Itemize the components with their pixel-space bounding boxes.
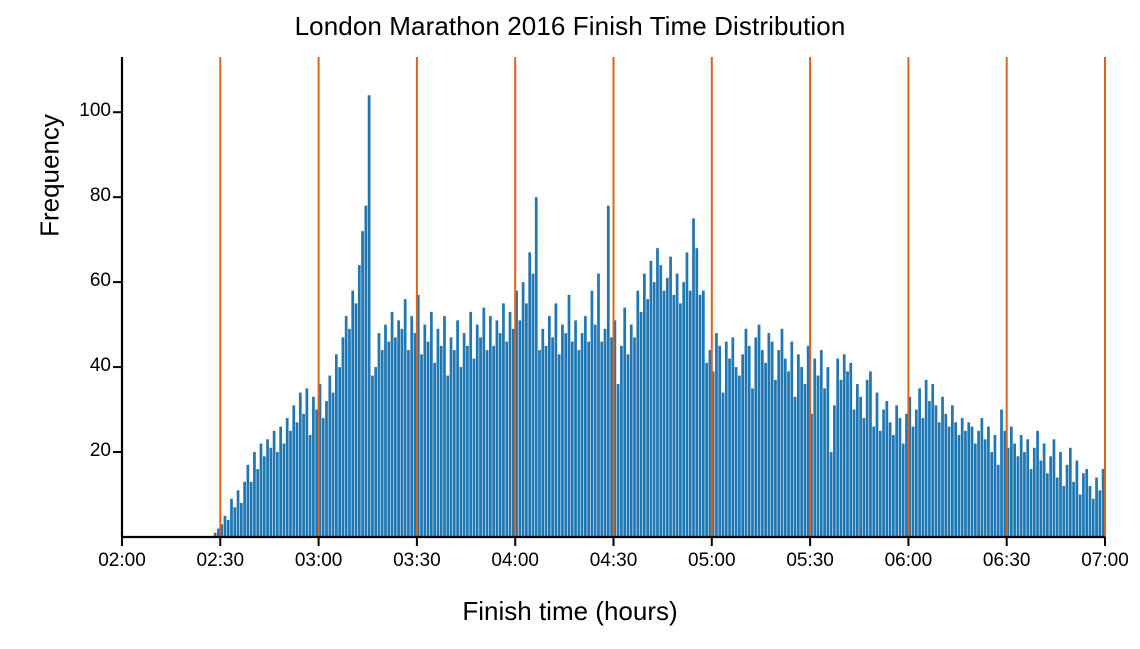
histogram-bar (548, 316, 551, 537)
histogram-bar (777, 350, 780, 537)
histogram-bar (332, 393, 335, 537)
histogram-bar (869, 371, 872, 537)
x-tick-label: 04:30 (569, 550, 659, 572)
histogram-bar (650, 261, 653, 537)
histogram-bar (630, 325, 633, 537)
histogram-bar (584, 316, 587, 537)
histogram-bar (1010, 427, 1013, 537)
chart-figure: London Marathon 2016 Finish Time Distrib… (0, 0, 1140, 649)
histogram-bar (401, 329, 404, 537)
histogram-bar (532, 274, 535, 537)
histogram-bar (535, 197, 538, 537)
histogram-bar (309, 435, 312, 537)
histogram-bar (518, 320, 521, 537)
histogram-bar (1079, 495, 1082, 537)
histogram-bar (394, 337, 397, 537)
histogram-bar (564, 333, 567, 537)
histogram-bar (551, 337, 554, 537)
histogram-bar (240, 503, 243, 537)
histogram-bar (1089, 486, 1092, 537)
histogram-bar (689, 291, 692, 537)
histogram-bar (885, 401, 888, 537)
histogram-bar (768, 333, 771, 537)
histogram-bar (276, 452, 279, 537)
histogram-bar (954, 422, 957, 537)
histogram-bar (545, 346, 548, 537)
histogram-bar (912, 427, 915, 537)
histogram-bar (355, 303, 358, 537)
histogram-bar (260, 444, 263, 537)
y-tick-label: 80 (51, 185, 111, 207)
histogram-bar (646, 299, 649, 537)
histogram-bar (443, 316, 446, 537)
histogram-bar (925, 380, 928, 537)
histogram-bar (427, 342, 430, 537)
histogram-bar (574, 320, 577, 537)
histogram-bar (555, 303, 558, 537)
histogram-bar (787, 371, 790, 537)
histogram-bar (790, 342, 793, 537)
histogram-bar (430, 312, 433, 537)
histogram-bar (813, 359, 816, 537)
histogram-bar (342, 337, 345, 537)
histogram-bar (764, 363, 767, 537)
histogram-bar (499, 333, 502, 537)
histogram-bar (381, 350, 384, 537)
histogram-bar (718, 346, 721, 537)
histogram-bar (591, 291, 594, 537)
histogram-bar (879, 431, 882, 537)
histogram-bar (558, 354, 561, 537)
histogram-bar (794, 397, 797, 537)
histogram-bar (617, 384, 620, 537)
histogram-bar (289, 431, 292, 537)
histogram-bar (699, 295, 702, 537)
histogram-bar (460, 367, 463, 537)
histogram-bar (1017, 456, 1020, 537)
histogram-bar (607, 206, 610, 537)
histogram-bar (541, 329, 544, 537)
histogram-bar (256, 469, 259, 537)
histogram-bar (525, 303, 528, 537)
histogram-bar (1046, 473, 1049, 537)
histogram-bar (846, 371, 849, 537)
histogram-bars (214, 95, 1105, 537)
histogram-bar (859, 397, 862, 537)
histogram-bar (1000, 410, 1003, 537)
histogram-bar (1092, 499, 1095, 537)
histogram-bar (640, 312, 643, 537)
histogram-bar (1059, 452, 1062, 537)
histogram-bar (958, 435, 961, 537)
histogram-bar (931, 384, 934, 537)
histogram-bar (892, 435, 895, 537)
histogram-bar (997, 465, 1000, 537)
histogram-bar (722, 393, 725, 537)
histogram-bar (479, 337, 482, 537)
histogram-bar (928, 401, 931, 537)
histogram-bar (902, 444, 905, 537)
histogram-bar (676, 274, 679, 537)
histogram-bar (702, 291, 705, 537)
histogram-bar (1066, 465, 1069, 537)
histogram-bar (741, 354, 744, 537)
histogram-bar (820, 350, 823, 537)
histogram-bar (1085, 469, 1088, 537)
histogram-bar (302, 414, 305, 537)
histogram-bar (312, 397, 315, 537)
histogram-bar (351, 291, 354, 537)
histogram-bar (433, 363, 436, 537)
histogram-bar (469, 312, 472, 537)
histogram-bar (561, 325, 564, 537)
histogram-bar (486, 350, 489, 537)
histogram-bar (1036, 431, 1039, 537)
histogram-bar (1076, 461, 1079, 537)
histogram-bar (594, 325, 597, 537)
histogram-bar (407, 350, 410, 537)
histogram-bar (247, 465, 250, 537)
x-tick-label: 03:00 (274, 550, 364, 572)
histogram-bar (1023, 452, 1026, 537)
histogram-bar (754, 337, 757, 537)
histogram-bar (368, 95, 371, 537)
histogram-bar (496, 320, 499, 537)
histogram-bar (679, 303, 682, 537)
histogram-bar (279, 427, 282, 537)
histogram-bar (348, 329, 351, 537)
histogram-bar (784, 359, 787, 537)
histogram-bar (378, 333, 381, 537)
histogram-bar (604, 329, 607, 537)
histogram-bar (872, 427, 875, 537)
histogram-bar (230, 499, 233, 537)
histogram-bar (830, 452, 833, 537)
histogram-bar (253, 452, 256, 537)
y-tick-label: 20 (51, 440, 111, 462)
x-tick-label: 02:30 (175, 550, 265, 572)
histogram-bar (466, 346, 469, 537)
histogram-bar (728, 359, 731, 537)
histogram-bar (476, 325, 479, 537)
histogram-bar (990, 452, 993, 537)
histogram-bar (299, 393, 302, 537)
histogram-bar (1043, 444, 1046, 537)
histogram-bar (843, 354, 846, 537)
histogram-bar (456, 320, 459, 537)
histogram-bar (695, 248, 698, 537)
histogram-bar (397, 320, 400, 537)
histogram-bar (1095, 478, 1098, 537)
histogram-bar (781, 329, 784, 537)
histogram-bar (492, 346, 495, 537)
histogram-bar (666, 278, 669, 537)
x-tick-label: 05:00 (667, 550, 757, 572)
histogram-bar (269, 448, 272, 537)
histogram-bar (509, 312, 512, 537)
histogram-bar (882, 410, 885, 537)
histogram-bar (391, 312, 394, 537)
histogram-bar (1098, 490, 1101, 537)
x-tick-label: 07:00 (1060, 550, 1140, 572)
histogram-bar (705, 363, 708, 537)
histogram-bar (669, 257, 672, 537)
x-tick-label: 03:30 (372, 550, 462, 572)
histogram-bar (948, 427, 951, 537)
histogram-bar (505, 342, 508, 537)
histogram-bar (833, 405, 836, 537)
y-tick-label: 60 (51, 270, 111, 292)
histogram-bar (935, 405, 938, 537)
histogram-bar (322, 418, 325, 537)
histogram-bar (450, 337, 453, 537)
histogram-bar (502, 303, 505, 537)
histogram-bar (653, 282, 656, 537)
histogram-bar (286, 418, 289, 537)
histogram-bar (643, 274, 646, 537)
histogram-bar (345, 316, 348, 537)
histogram-bar (840, 380, 843, 537)
histogram-bar (961, 418, 964, 537)
histogram-bar (817, 376, 820, 537)
histogram-bar (620, 346, 623, 537)
histogram-bar (656, 248, 659, 537)
y-tick-label: 100 (51, 100, 111, 122)
histogram-bar (577, 350, 580, 537)
histogram-bar (863, 418, 866, 537)
histogram-bar (636, 291, 639, 537)
histogram-bar (453, 350, 456, 537)
histogram-bar (283, 444, 286, 537)
histogram-bar (361, 231, 364, 537)
x-tick-label: 04:00 (470, 550, 560, 572)
histogram-bar (250, 482, 253, 537)
histogram-bar (1033, 448, 1036, 537)
histogram-bar (889, 422, 892, 537)
histogram-bar (800, 367, 803, 537)
histogram-bar (1049, 456, 1052, 537)
histogram-bar (597, 274, 600, 537)
histogram-bar (374, 367, 377, 537)
histogram-bar (489, 316, 492, 537)
histogram-bar (440, 346, 443, 537)
histogram-bar (918, 388, 921, 537)
histogram-bar (823, 388, 826, 537)
histogram-bar (446, 376, 449, 537)
histogram-bar (731, 337, 734, 537)
histogram-bar (672, 295, 675, 537)
histogram-bar (1053, 439, 1056, 537)
histogram-bar (876, 393, 879, 537)
histogram-bar (738, 376, 741, 537)
histogram-bar (771, 342, 774, 537)
histogram-bar (1020, 435, 1023, 537)
histogram-bar (971, 427, 974, 537)
histogram-bar (751, 388, 754, 537)
histogram-bar (853, 410, 856, 537)
histogram-bar (899, 418, 902, 537)
histogram-bar (922, 418, 925, 537)
histogram-bar (758, 325, 761, 537)
histogram-bar (335, 354, 338, 537)
histogram-bar (538, 350, 541, 537)
histogram-bar (571, 342, 574, 537)
histogram-bar (1072, 482, 1075, 537)
histogram-bar (1056, 478, 1059, 537)
histogram-bar (266, 439, 269, 537)
histogram-bar (224, 516, 227, 537)
histogram-bar (627, 354, 630, 537)
histogram-bar (338, 367, 341, 537)
histogram-bar (522, 282, 525, 537)
histogram-bar (364, 206, 367, 537)
histogram-bar (761, 350, 764, 537)
histogram-bar (938, 422, 941, 537)
histogram-bar (623, 308, 626, 537)
histogram-bar (423, 325, 426, 537)
histogram-bar (659, 265, 662, 537)
histogram-bar (1082, 473, 1085, 537)
histogram-bar (987, 427, 990, 537)
histogram-bar (951, 405, 954, 537)
histogram-bar (233, 507, 236, 537)
histogram-bar (325, 401, 328, 537)
histogram-bar (633, 337, 636, 537)
histogram-bar (964, 431, 967, 537)
histogram-bar (581, 333, 584, 537)
histogram-bar (473, 359, 476, 537)
histogram-bar (305, 388, 308, 537)
histogram-bar (410, 316, 413, 537)
x-tick-label: 06:00 (863, 550, 953, 572)
histogram-bar (1013, 444, 1016, 537)
histogram-bar (849, 363, 852, 537)
x-tick-label: 05:30 (765, 550, 855, 572)
histogram-bar (804, 384, 807, 537)
histogram-bar (227, 520, 230, 537)
histogram-bar (296, 422, 299, 537)
y-tick-label: 40 (51, 355, 111, 377)
histogram-bar (273, 431, 276, 537)
histogram-bar (748, 346, 751, 537)
histogram-bar (735, 367, 738, 537)
histogram-bar (263, 456, 266, 537)
histogram-bar (686, 252, 689, 537)
histogram-bar (243, 482, 246, 537)
histogram-bar (358, 265, 361, 537)
histogram-bar (404, 299, 407, 537)
histogram-bar (371, 376, 374, 537)
histogram-bar (463, 333, 466, 537)
histogram-bar (745, 329, 748, 537)
histogram-bar (826, 367, 829, 537)
histogram-bar (1030, 469, 1033, 537)
histogram-bar (587, 342, 590, 537)
histogram-bar (980, 418, 983, 537)
histogram-bar (682, 282, 685, 537)
histogram-bar (237, 490, 240, 537)
histogram-bar (663, 291, 666, 537)
histogram-bar (977, 431, 980, 537)
histogram-bar (941, 397, 944, 537)
histogram-bar (944, 414, 947, 537)
histogram-bar (725, 342, 728, 537)
histogram-bar (328, 376, 331, 537)
x-tick-label: 02:00 (77, 550, 167, 572)
histogram-bar (292, 405, 295, 537)
histogram-bar (866, 380, 869, 537)
histogram-bar (856, 384, 859, 537)
histogram-bar (384, 325, 387, 537)
histogram-bar (437, 329, 440, 537)
histogram-bar (797, 354, 800, 537)
x-axis-label: Finish time (hours) (0, 596, 1140, 627)
histogram-bar (715, 333, 718, 537)
histogram-bar (915, 410, 918, 537)
histogram-bar (974, 444, 977, 537)
histogram-bar (836, 359, 839, 537)
histogram-bar (528, 252, 531, 537)
histogram-bar (482, 308, 485, 537)
histogram-bar (1069, 448, 1072, 537)
x-tick-label: 06:30 (962, 550, 1052, 572)
histogram-bar (568, 295, 571, 537)
histogram-bar (1039, 461, 1042, 537)
histogram-bar (984, 439, 987, 537)
histogram-bar (1026, 439, 1029, 537)
histogram-bar (895, 405, 898, 537)
histogram-bar (387, 342, 390, 537)
histogram-bar (1062, 486, 1065, 537)
histogram-bar (420, 354, 423, 537)
histogram-bar (692, 218, 695, 537)
histogram-bar (967, 422, 970, 537)
histogram-bar (994, 435, 997, 537)
histogram-bar (774, 380, 777, 537)
histogram-bar (600, 342, 603, 537)
